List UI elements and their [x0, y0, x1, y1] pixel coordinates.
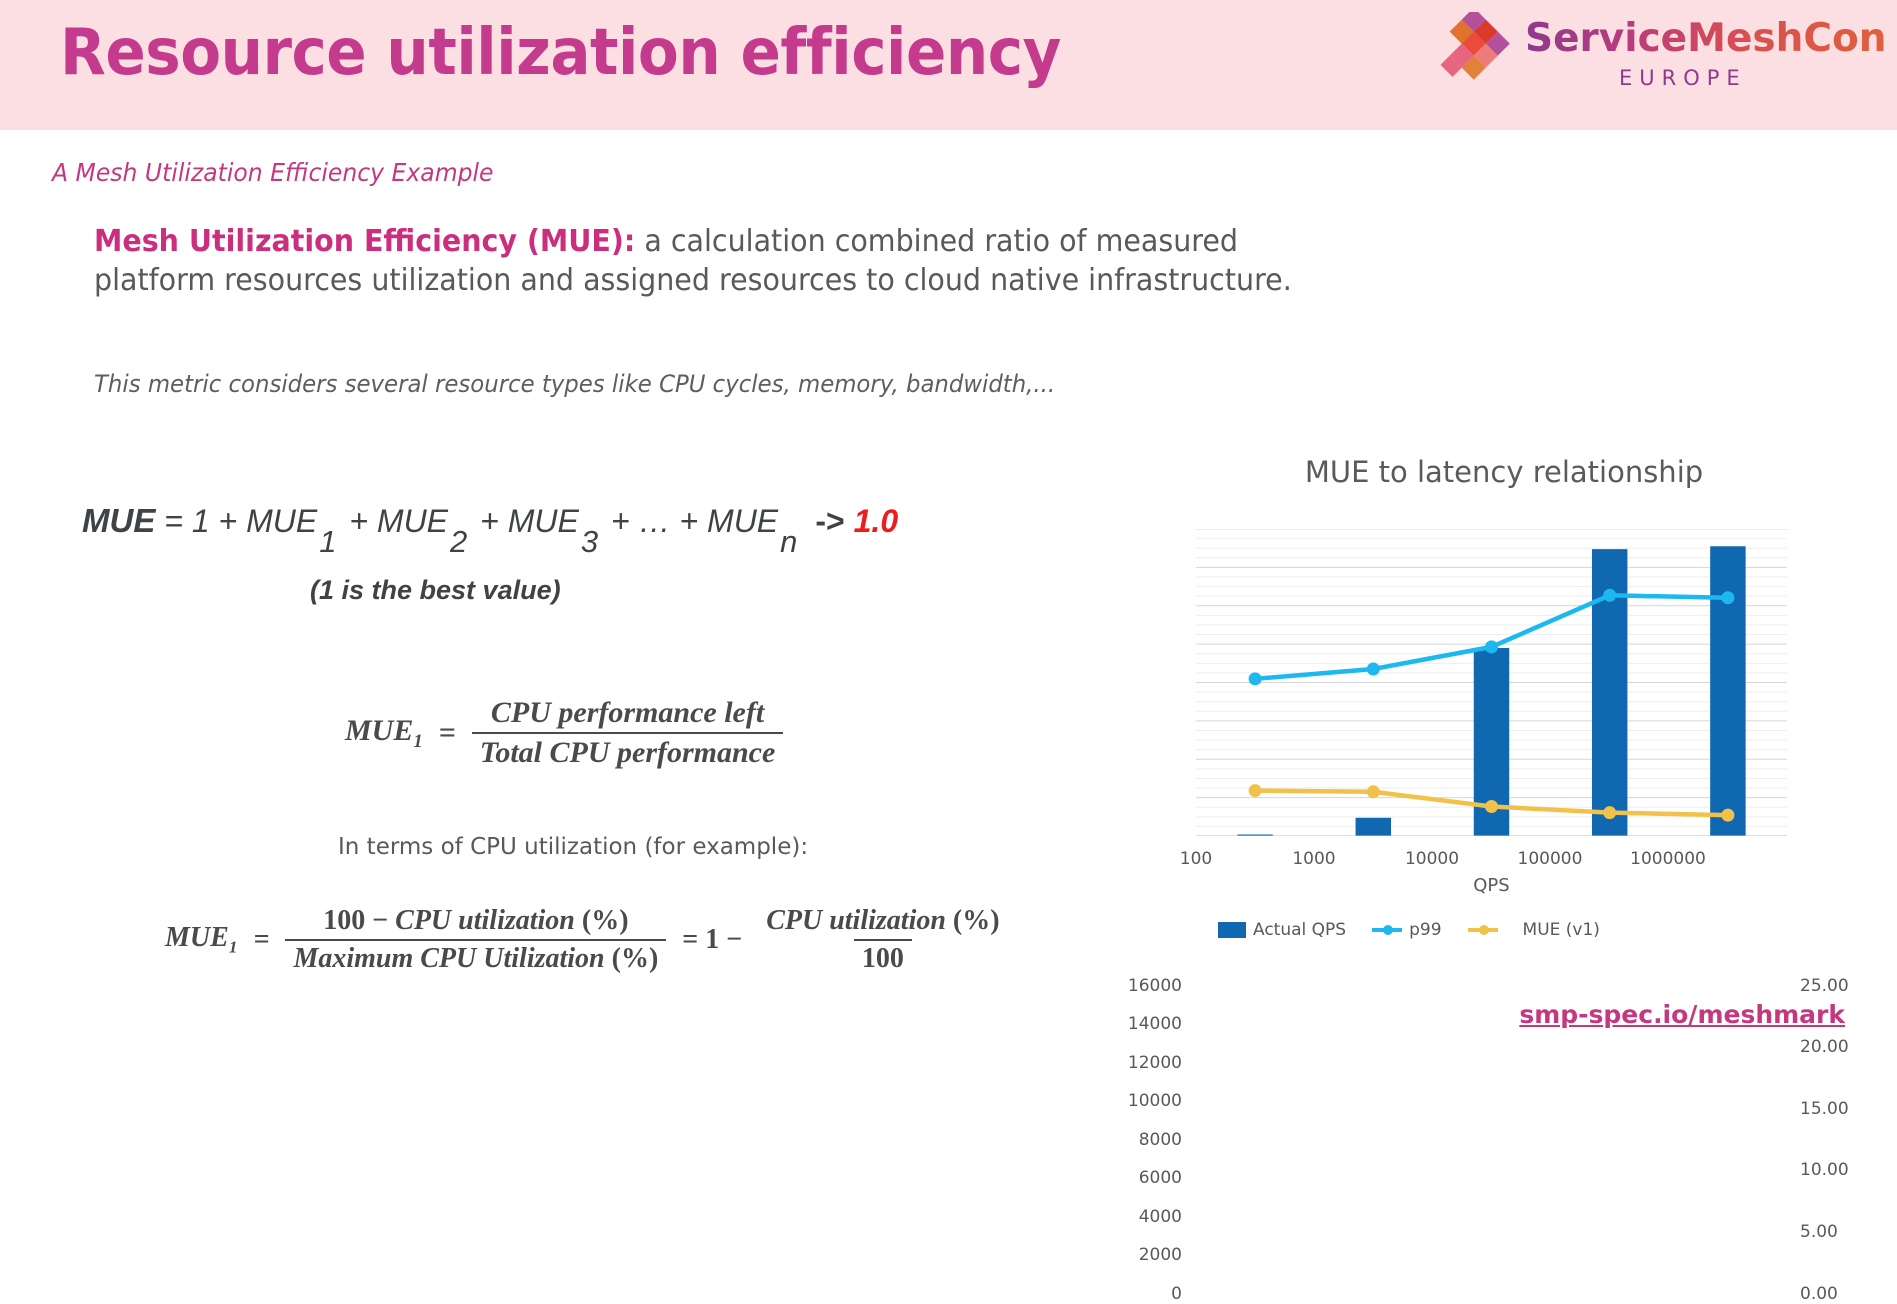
legend-swatch-bar-icon	[1218, 922, 1246, 938]
mue1b-equals: =	[253, 924, 269, 956]
mue-term-3: MUE	[508, 503, 579, 539]
legend-swatch-line-p99-icon	[1372, 928, 1402, 932]
mue-plus-1: +	[340, 503, 376, 539]
mue-term-2: MUE	[377, 503, 448, 539]
mue-sub-1: 1	[319, 524, 342, 560]
mue1b-den1-a: Maximum CPU Utilization	[293, 943, 604, 974]
page-title: Resource utilization efficiency	[60, 16, 1061, 90]
legend-item-mue-v1[interactable]: MUE (v1)	[1468, 920, 1600, 940]
legend-label-mue-v1: MUE (v1)	[1523, 920, 1600, 940]
mue-sub-2: 2	[450, 524, 473, 560]
cpu-utilization-note: In terms of CPU utilization (for example…	[338, 834, 808, 860]
mue1b-equals-2: = 1 −	[682, 924, 742, 956]
y-axis-tick-6000: 6000	[1112, 1168, 1182, 1188]
mue1b-num2-pct: (%)	[946, 905, 1000, 936]
x-axis-title: QPS	[1196, 875, 1787, 896]
y2-axis-tick-20: 20.00	[1800, 1037, 1880, 1057]
mue-sum-formula: MUE = 1 + MUE1 + MUE2 + MUE3 + … + MUEn-…	[82, 502, 898, 540]
y2-axis-tick-15: 15.00	[1800, 1099, 1880, 1119]
mue1b-lhs-sub: 1	[229, 938, 238, 957]
mue1b-numerator-1: 100 − CPU utilization (%)	[315, 905, 636, 939]
y-axis-tick-0: 0	[1112, 1284, 1182, 1304]
mue1-denominator: Total CPU performance	[472, 732, 784, 770]
legend-item-actual-qps[interactable]: Actual QPS	[1218, 920, 1346, 940]
mue1b-num2-a: CPU utilization	[766, 905, 946, 936]
y-axis-tick-10000: 10000	[1112, 1091, 1182, 1111]
mue1-lhs: MUE1	[345, 714, 423, 753]
x-axis-tick-100: 100	[1131, 849, 1261, 869]
x-axis-tick-1000000: 1000000	[1603, 849, 1733, 869]
legend-swatch-line-mue-icon	[1468, 928, 1498, 932]
mue1b-den1-pct: (%)	[605, 943, 659, 974]
legend-label-actual-qps: Actual QPS	[1253, 920, 1346, 940]
y2-axis-tick-0: 0.00	[1800, 1284, 1880, 1304]
chart-legend: Actual QPS p99 MUE (v1)	[1196, 920, 1796, 940]
mue1b-lhs: MUE1	[165, 922, 237, 958]
mue-sum-eq: = 1 +	[155, 503, 246, 539]
mue1-lhs-text: MUE	[345, 714, 413, 747]
legend-item-p99[interactable]: p99	[1372, 920, 1441, 940]
mue-best-value-caption: (1 is the best value)	[310, 575, 561, 606]
x-axis-tick-1000: 1000	[1249, 849, 1379, 869]
section-subtitle: A Mesh Utilization Efficiency Example	[52, 158, 494, 187]
mue1-equals: =	[439, 716, 456, 750]
mue-plus-3: + … +	[602, 503, 707, 539]
mue1-cpu-utilization-formula: MUE1 = 100 − CPU utilization (%) Maximum…	[165, 905, 1014, 975]
logo-region: EUROPE	[1619, 66, 1747, 90]
brand-logo: ServiceMeshCon EUROPE	[1429, 8, 1849, 116]
mue-sum-head: MUE	[82, 502, 155, 539]
mue-latency-chart: MUE to latency relationship 16000 14000 …	[1120, 455, 1888, 785]
mue1b-lhs-text: MUE	[165, 922, 229, 953]
y-axis-tick-2000: 2000	[1112, 1245, 1182, 1265]
mue-sub-n: n	[780, 524, 803, 560]
x-axis-tick-10000: 10000	[1367, 849, 1497, 869]
mue1-numerator: CPU performance left	[483, 696, 772, 732]
servicemeshcon-diamond-logo-icon	[1439, 12, 1517, 88]
legend-label-p99: p99	[1409, 920, 1441, 940]
definition-paragraph: Mesh Utilization Efficiency (MUE): a cal…	[94, 222, 1348, 300]
mue1b-numerator-2: CPU utilization (%)	[758, 905, 1007, 939]
logo-wordmark: ServiceMeshCon	[1525, 16, 1887, 61]
x-axis-tick-100000: 100000	[1485, 849, 1615, 869]
mue-limit-value: 1.0	[854, 503, 898, 539]
mue1-fraction: CPU performance left Total CPU performan…	[472, 696, 784, 770]
y-axis-tick-4000: 4000	[1112, 1207, 1182, 1227]
y-axis-tick-12000: 12000	[1112, 1053, 1182, 1073]
y-axis-tick-8000: 8000	[1112, 1130, 1182, 1150]
mue-arrow: ->	[815, 503, 844, 539]
mue1b-num1-a: 100 −	[323, 905, 395, 936]
mue-term-1: MUE	[246, 503, 317, 539]
mue-plus-2: +	[471, 503, 507, 539]
chart-title: MUE to latency relationship	[1120, 455, 1888, 489]
y2-axis-tick-10: 10.00	[1800, 1160, 1880, 1180]
mue1-lhs-sub: 1	[413, 731, 422, 752]
metric-note: This metric considers several resource t…	[94, 370, 1055, 398]
mue1b-fraction-1: 100 − CPU utilization (%) Maximum CPU Ut…	[285, 905, 666, 975]
meshmark-spec-link[interactable]: smp-spec.io/meshmark	[1519, 1000, 1845, 1029]
definition-term: Mesh Utilization Efficiency (MUE):	[94, 224, 635, 259]
y2-axis-tick-25: 25.00	[1800, 976, 1880, 996]
mue1-cpu-performance-formula: MUE1 = CPU performance left Total CPU pe…	[345, 696, 789, 770]
mue-term-n: MUE	[707, 503, 778, 539]
mue1b-denominator-1: Maximum CPU Utilization (%)	[285, 939, 666, 975]
mue1b-num1-b: CPU utilization	[395, 905, 575, 936]
mue-sub-3: 3	[581, 524, 604, 560]
mue1b-denominator-2: 100	[854, 939, 912, 975]
mue1b-num1-pct: (%)	[575, 905, 629, 936]
y-axis-tick-16000: 16000	[1112, 976, 1182, 996]
mue1b-fraction-2: CPU utilization (%) 100	[758, 905, 1007, 975]
y2-axis-tick-5: 5.00	[1800, 1222, 1880, 1242]
y-axis-tick-14000: 14000	[1112, 1014, 1182, 1034]
chart-plot-area	[1196, 529, 1787, 836]
